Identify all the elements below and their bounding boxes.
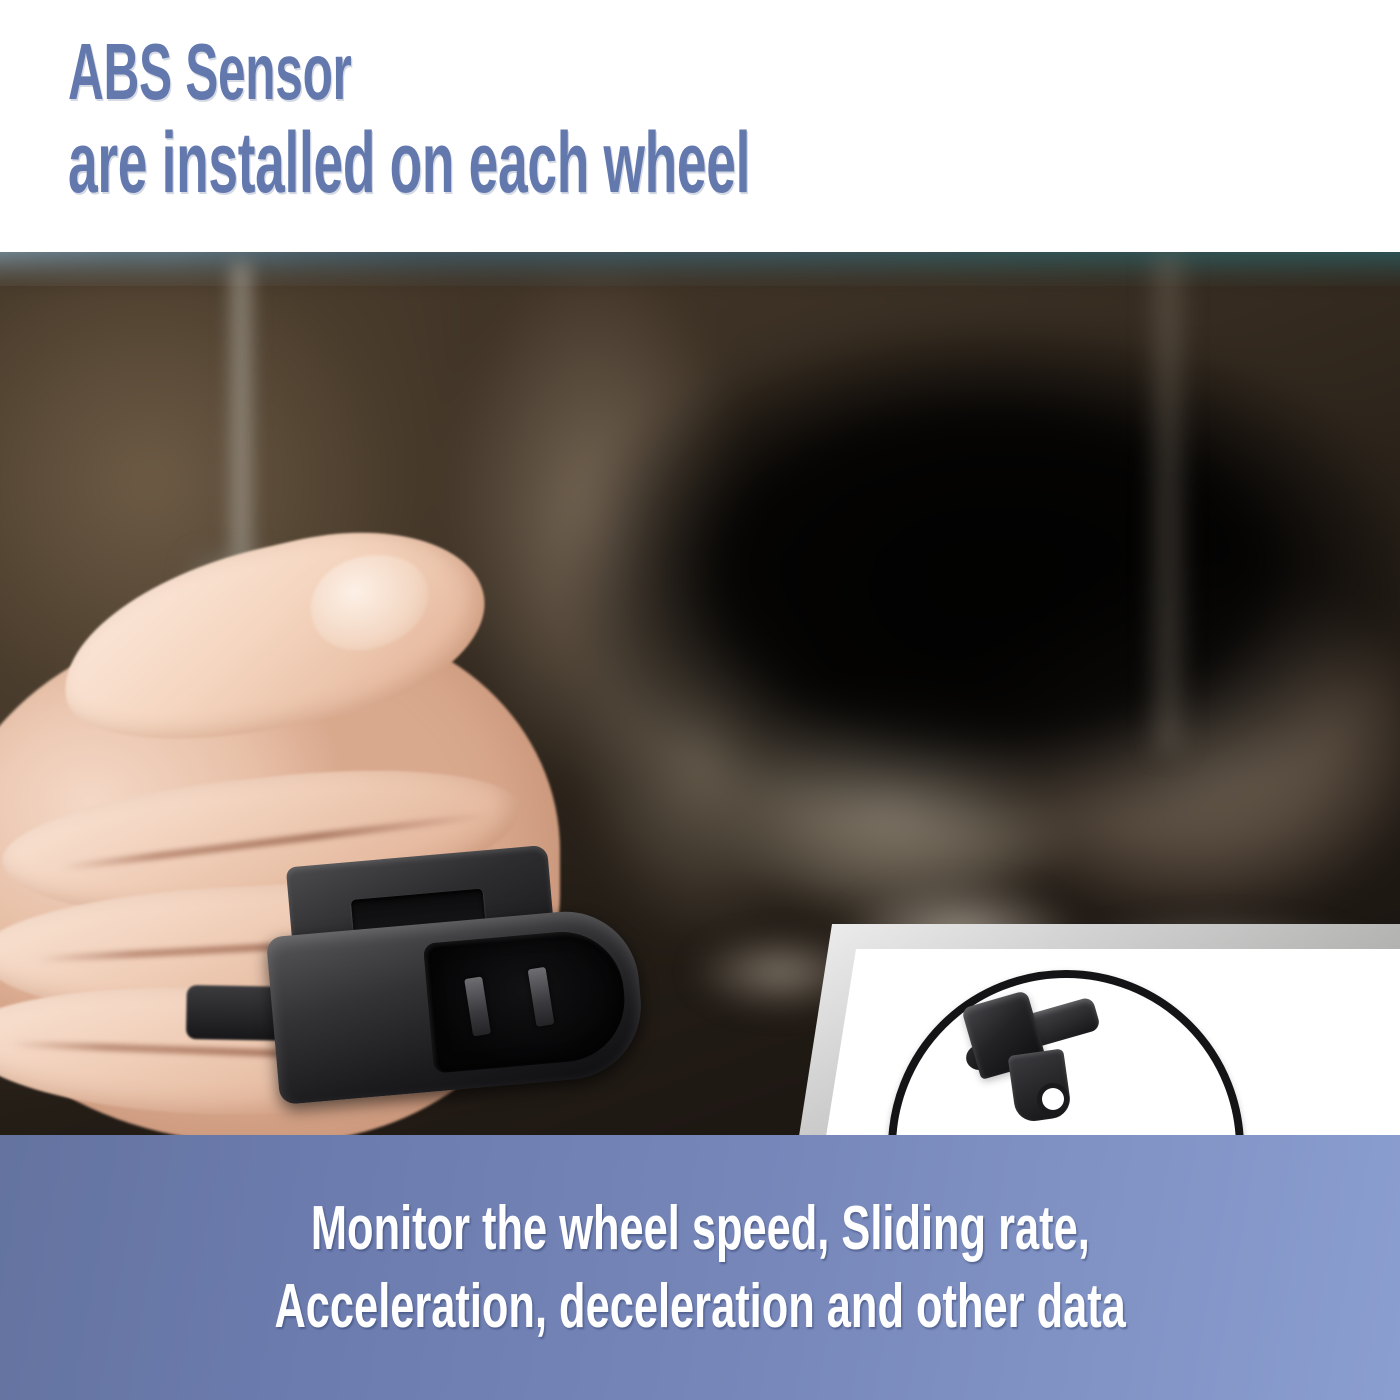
blurred-panel-edge: [1148, 252, 1188, 752]
black-connector: [259, 825, 681, 1129]
footer-line-1: Monitor the wheel speed, Sliding rate,: [311, 1197, 1090, 1260]
connector-body: [266, 906, 647, 1105]
footer-line-2: Acceleration, deceleration and other dat…: [274, 1275, 1125, 1338]
connector-pin: [464, 976, 491, 1036]
headline-line-1: ABS Sensor: [68, 32, 894, 111]
connector-pin: [528, 967, 555, 1027]
connector-face: [423, 927, 630, 1074]
header-section: ABS Sensor are installed on each wheel: [0, 0, 1400, 252]
sensor-mounting-bracket: [1008, 1048, 1073, 1123]
hand: [0, 502, 720, 1135]
product-infographic: ABS Sensor are installed on each wheel: [0, 0, 1400, 1400]
footer-banner: Monitor the wheel speed, Sliding rate, A…: [0, 1135, 1400, 1400]
hero-photo: [0, 252, 1400, 1135]
product-inset-background: [760, 924, 1400, 1135]
abs-wheel-speed-sensor: [760, 924, 1400, 1135]
product-inset-panel: [760, 924, 1400, 1135]
headline-line-2: are installed on each wheel: [68, 121, 894, 206]
bracket-bolt-hole: [1042, 1088, 1064, 1110]
